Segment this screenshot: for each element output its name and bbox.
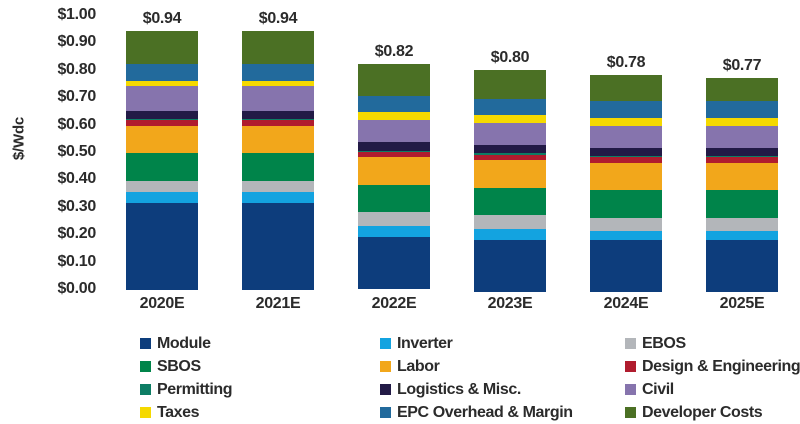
legend-item-inverter[interactable]: Inverter — [380, 335, 625, 353]
bar-segment-sbos[interactable] — [590, 190, 662, 217]
bar-segment-module[interactable] — [706, 240, 778, 292]
y-axis-tick-label: $0.80 — [57, 61, 96, 79]
bar-stack — [590, 75, 662, 289]
bar-segment-logistics-misc[interactable] — [474, 145, 546, 153]
legend-item-epc-overhead-margin[interactable]: EPC Overhead & Margin — [380, 404, 625, 422]
bar-segment-ebos[interactable] — [242, 181, 314, 192]
bar-segment-civil[interactable] — [242, 86, 314, 111]
legend-swatch-icon — [625, 361, 636, 372]
legend-label: EBOS — [642, 335, 686, 353]
bar-segment-module[interactable] — [590, 240, 662, 292]
bar-total-label: $0.94 — [228, 10, 328, 28]
bar-stack — [474, 70, 546, 289]
bar-group-2025e[interactable]: $0.772025E — [706, 78, 778, 289]
bar-segment-logistics-misc[interactable] — [706, 148, 778, 156]
bar-segment-labor[interactable] — [242, 126, 314, 153]
bar-segment-developer-costs[interactable] — [358, 64, 430, 96]
y-axis-tick-label: $0.30 — [57, 198, 96, 216]
bar-total-label: $0.77 — [692, 57, 792, 75]
bar-stack — [706, 78, 778, 289]
legend-label: Logistics & Misc. — [397, 381, 521, 399]
bar-segment-module[interactable] — [242, 203, 314, 291]
x-axis-label-2023e: 2023E — [458, 295, 562, 313]
legend-label: Taxes — [157, 404, 199, 422]
bar-segment-developer-costs[interactable] — [706, 78, 778, 101]
legend-item-design-engineering[interactable]: Design & Engineering — [625, 358, 790, 376]
bar-segment-sbos[interactable] — [474, 188, 546, 215]
bar-total-label: $0.80 — [460, 49, 560, 67]
legend-item-labor[interactable]: Labor — [380, 358, 625, 376]
bar-group-2021e[interactable]: $0.942021E — [242, 31, 314, 289]
y-axis-tick-label: $1.00 — [57, 6, 96, 24]
bar-segment-developer-costs[interactable] — [474, 70, 546, 99]
bar-segment-inverter[interactable] — [358, 226, 430, 237]
bar-segment-taxes[interactable] — [706, 118, 778, 126]
bar-segment-civil[interactable] — [706, 126, 778, 148]
legend-item-logistics-misc[interactable]: Logistics & Misc. — [380, 381, 625, 399]
legend-item-taxes[interactable]: Taxes — [140, 404, 380, 422]
plot-area: $0.942020E$0.942021E$0.822022E$0.802023E… — [104, 0, 792, 295]
legend-item-ebos[interactable]: EBOS — [625, 335, 790, 353]
x-axis-label-2021e: 2021E — [226, 295, 330, 313]
legend-label: Labor — [397, 358, 439, 376]
chart-legend: ModuleInverterEBOSSBOSLaborDesign & Engi… — [140, 332, 790, 424]
bar-segment-developer-costs[interactable] — [126, 31, 198, 64]
legend-item-sbos[interactable]: SBOS — [140, 358, 380, 376]
bar-segment-labor[interactable] — [474, 160, 546, 187]
legend-label: Design & Engineering — [642, 358, 800, 376]
bar-segment-taxes[interactable] — [590, 118, 662, 126]
bar-segment-ebos[interactable] — [706, 218, 778, 232]
legend-item-permitting[interactable]: Permitting — [140, 381, 380, 399]
x-axis-label-2024e: 2024E — [574, 295, 678, 313]
x-axis-label-2022e: 2022E — [342, 295, 446, 313]
x-axis-label-2020e: 2020E — [110, 295, 214, 313]
legend-label: EPC Overhead & Margin — [397, 404, 573, 422]
bar-group-2023e[interactable]: $0.802023E — [474, 70, 546, 289]
bar-segment-taxes[interactable] — [474, 115, 546, 123]
bar-segment-sbos[interactable] — [242, 153, 314, 180]
bar-group-2024e[interactable]: $0.782024E — [590, 75, 662, 289]
bar-segment-labor[interactable] — [126, 126, 198, 153]
bar-segment-module[interactable] — [126, 203, 198, 291]
legend-swatch-icon — [625, 338, 636, 349]
bar-segment-labor[interactable] — [706, 163, 778, 190]
legend-label: Permitting — [157, 381, 232, 399]
bar-segment-logistics-misc[interactable] — [126, 111, 198, 119]
bar-segment-epc-overhead-margin[interactable] — [358, 96, 430, 112]
legend-swatch-icon — [380, 361, 391, 372]
bar-segment-ebos[interactable] — [126, 181, 198, 192]
bar-segment-inverter[interactable] — [242, 192, 314, 203]
bar-stack — [358, 64, 430, 289]
bar-segment-epc-overhead-margin[interactable] — [590, 101, 662, 117]
bar-stack — [242, 31, 314, 289]
bar-total-label: $0.78 — [576, 54, 676, 72]
y-axis-tick-label: $0.90 — [57, 33, 96, 51]
y-axis-tick-label: $0.50 — [57, 143, 96, 161]
legend-label: Module — [157, 335, 211, 353]
y-axis-tick-label: $0.40 — [57, 170, 96, 188]
bar-segment-ebos[interactable] — [358, 212, 430, 226]
legend-label: Developer Costs — [642, 404, 762, 422]
legend-swatch-icon — [380, 338, 391, 349]
bar-segment-civil[interactable] — [126, 86, 198, 111]
bar-segment-module[interactable] — [474, 240, 546, 292]
bar-segment-developer-costs[interactable] — [590, 75, 662, 101]
bar-segment-logistics-misc[interactable] — [358, 142, 430, 150]
bar-group-2020e[interactable]: $0.942020E — [126, 31, 198, 289]
bar-segment-inverter[interactable] — [474, 229, 546, 240]
y-axis-tick-label: $0.00 — [57, 280, 96, 298]
bar-segment-epc-overhead-margin[interactable] — [474, 99, 546, 115]
legend-swatch-icon — [380, 384, 391, 395]
legend-label: Civil — [642, 381, 674, 399]
legend-item-developer-costs[interactable]: Developer Costs — [625, 404, 790, 422]
bar-segment-logistics-misc[interactable] — [242, 111, 314, 119]
bar-segment-epc-overhead-margin[interactable] — [126, 64, 198, 80]
y-axis-ticks: $1.00$0.90$0.80$0.70$0.60$0.50$0.40$0.30… — [0, 0, 104, 310]
bar-segment-civil[interactable] — [590, 126, 662, 148]
legend-swatch-icon — [140, 361, 151, 372]
legend-swatch-icon — [140, 338, 151, 349]
bar-total-label: $0.82 — [344, 43, 444, 61]
bar-segment-inverter[interactable] — [126, 192, 198, 203]
legend-label: Inverter — [397, 335, 453, 353]
bar-segment-sbos[interactable] — [358, 185, 430, 212]
bar-segment-sbos[interactable] — [126, 153, 198, 180]
bar-segment-taxes[interactable] — [358, 112, 430, 120]
bar-segment-epc-overhead-margin[interactable] — [706, 101, 778, 117]
bar-segment-developer-costs[interactable] — [242, 31, 314, 64]
stacked-bar-chart: $/Wdc $1.00$0.90$0.80$0.70$0.60$0.50$0.4… — [0, 0, 800, 422]
bar-segment-labor[interactable] — [590, 163, 662, 190]
legend-swatch-icon — [380, 407, 391, 418]
legend-swatch-icon — [140, 384, 151, 395]
bar-total-label: $0.94 — [112, 10, 212, 28]
bar-segment-ebos[interactable] — [474, 215, 546, 229]
bar-segment-civil[interactable] — [474, 123, 546, 145]
bar-segment-inverter[interactable] — [706, 231, 778, 239]
bar-group-2022e[interactable]: $0.822022E — [358, 64, 430, 289]
bar-segment-ebos[interactable] — [590, 218, 662, 232]
x-axis-label-2025e: 2025E — [690, 295, 794, 313]
y-axis-tick-label: $0.20 — [57, 225, 96, 243]
bar-segment-epc-overhead-margin[interactable] — [242, 64, 314, 80]
y-axis-tick-label: $0.70 — [57, 88, 96, 106]
legend-swatch-icon — [140, 407, 151, 418]
bar-stack — [126, 31, 198, 289]
bar-segment-module[interactable] — [358, 237, 430, 289]
bar-segment-civil[interactable] — [358, 120, 430, 142]
legend-label: SBOS — [157, 358, 201, 376]
legend-swatch-icon — [625, 407, 636, 418]
legend-item-civil[interactable]: Civil — [625, 381, 790, 399]
bar-segment-inverter[interactable] — [590, 231, 662, 239]
bar-segment-labor[interactable] — [358, 157, 430, 184]
bar-segment-sbos[interactable] — [706, 190, 778, 217]
legend-swatch-icon — [625, 384, 636, 395]
bar-segment-logistics-misc[interactable] — [590, 148, 662, 156]
legend-item-module[interactable]: Module — [140, 335, 380, 353]
y-axis-tick-label: $0.60 — [57, 116, 96, 134]
y-axis-tick-label: $0.10 — [57, 253, 96, 271]
